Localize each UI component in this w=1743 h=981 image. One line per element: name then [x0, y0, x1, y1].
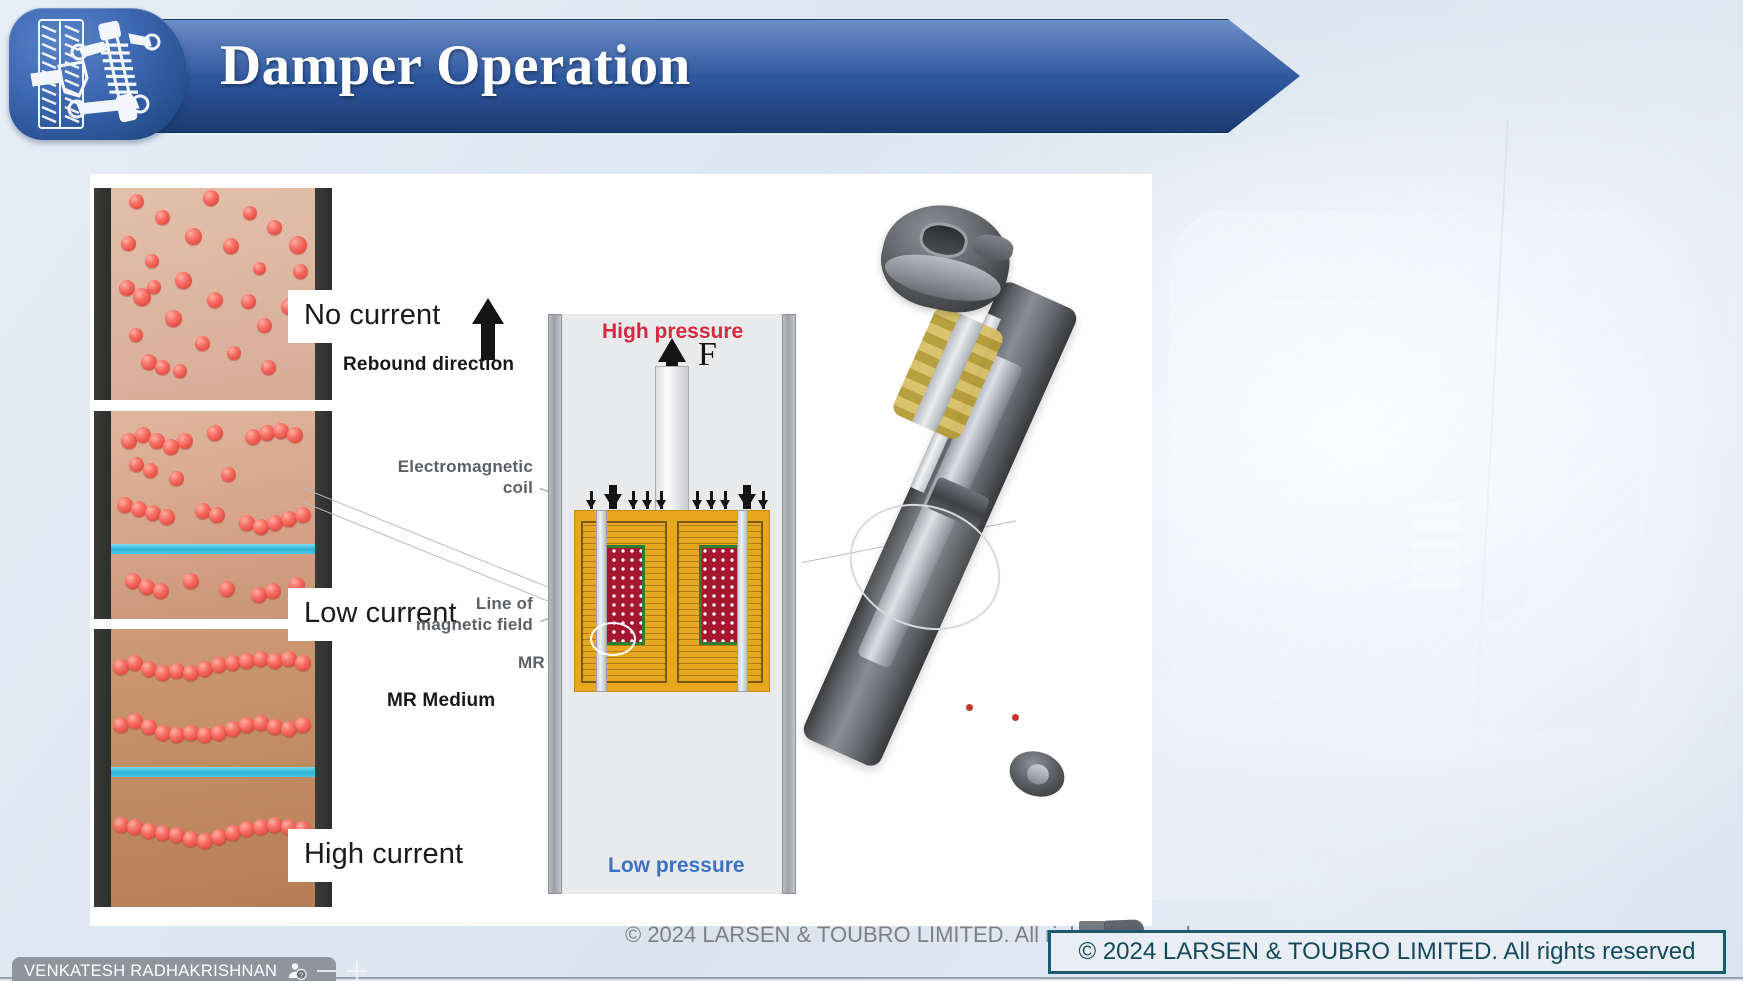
flow-arrow-icon: [706, 500, 716, 509]
damper-valve-marker: [966, 704, 973, 711]
flow-arrow-icon: [656, 500, 666, 509]
plus-icon[interactable]: [347, 961, 367, 981]
flow-arrow-icon: [720, 500, 730, 509]
flow-arrow-icon: [692, 500, 702, 509]
presentation-slide: Damper Operation: [0, 0, 1743, 981]
label-force-F: F: [698, 336, 717, 374]
damper-top-mount-tab: [971, 232, 1015, 264]
footer-copyright-box: © 2024 LARSEN & TOUBRO LIMITED. All righ…: [1048, 930, 1726, 974]
background-vehicle-watermark: [1060, 120, 1743, 840]
coil-highlight-circle: [590, 622, 636, 656]
watermark-edge-line: [1473, 120, 1508, 759]
flow-arrow-icon: [642, 500, 652, 509]
tube-wall-left: [94, 629, 111, 907]
damper-cross-section-schematic: High pressure F: [542, 314, 802, 894]
footer-copyright-box-text: © 2024 LARSEN & TOUBRO LIMITED. All righ…: [1078, 938, 1695, 966]
tube-wall-left: [94, 188, 111, 400]
participant-name-pill[interactable]: VENKATESH RADHAKRISHNAN ?: [12, 957, 336, 981]
flow-arrow-icon: [586, 500, 596, 509]
damper-valve-marker: [1012, 714, 1019, 721]
schematic-rod-sleeve-right: [737, 510, 748, 692]
label-low-pressure: Low pressure: [608, 854, 745, 878]
svg-text:?: ?: [299, 971, 303, 980]
minus-icon[interactable]: [317, 970, 337, 972]
flow-arrow-large-icon: [738, 494, 756, 509]
damper-eyelet-hole: [1024, 761, 1052, 787]
watermark-inner-shape: [1240, 300, 1530, 620]
flow-arrow-icon: [628, 500, 638, 509]
damper-lower-eyelet: [1003, 744, 1071, 804]
participant-name-label: VENKATESH RADHAKRISHNAN: [24, 962, 277, 981]
label-mr-medium: MR Medium: [387, 690, 495, 712]
cyan-divider-band: [111, 544, 315, 554]
label-electromagnetic-coil: Electromagnetic coil: [345, 457, 533, 498]
watermark-detail-marks: [1412, 502, 1460, 588]
rebound-direction-arrow-icon: [472, 298, 504, 324]
person-question-icon[interactable]: ?: [287, 961, 307, 981]
label-rebound-direction: Rebound direction: [343, 354, 514, 376]
flow-arrow-large-icon: [604, 494, 622, 509]
flow-arrow-icon: [758, 500, 768, 509]
tube-fluid: [111, 411, 315, 619]
tube-wall-left: [94, 411, 111, 619]
page-title: Damper Operation: [220, 33, 691, 98]
label-no-current: No current: [288, 290, 456, 343]
schematic-rod-sleeve-left: [596, 510, 607, 692]
schematic-wall-left: [548, 314, 562, 894]
cyan-divider-band: [111, 767, 315, 777]
tube-fluid: [111, 629, 315, 907]
suspension-damper-logo-icon: [9, 8, 187, 140]
damper-cutaway-illustration: [770, 196, 1130, 836]
label-line-of-magnetic-field: Line of magnetic field: [343, 594, 533, 635]
slide-header: Damper Operation: [0, 0, 1300, 147]
damper-operation-figure: No current Low current High current Rebo…: [90, 174, 1152, 926]
force-arrow-icon: [658, 338, 686, 362]
label-high-current: High current: [288, 829, 479, 882]
tube-fluid: [111, 188, 315, 400]
watermark-body-shape: [1170, 210, 1640, 730]
leader-line-tube-to-schematic-upper: [304, 488, 583, 601]
